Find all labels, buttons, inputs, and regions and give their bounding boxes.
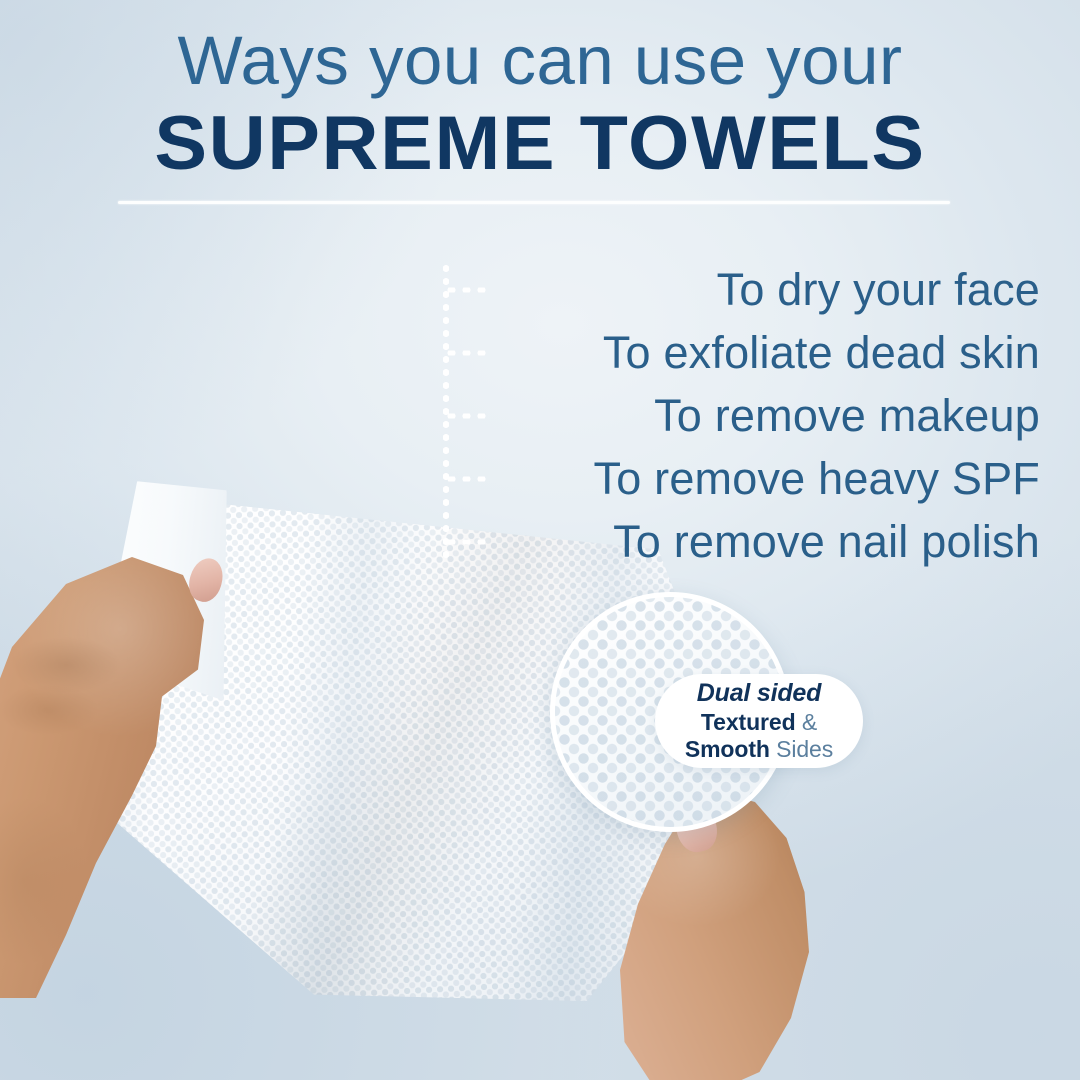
- page-title: Ways you can use your SUPREME TOWELS: [0, 24, 1080, 186]
- badge-subtitle: Textured & Smooth Sides: [685, 709, 833, 761]
- dotted-connector-icon: [444, 476, 490, 481]
- dotted-connector-icon: [444, 287, 490, 292]
- headline-line-1: Ways you can use your: [0, 24, 1080, 97]
- badge-smooth-label: Smooth: [685, 736, 770, 762]
- badge-sides-label: Sides: [770, 736, 833, 762]
- uses-list: To dry your face To exfoliate dead skin …: [440, 258, 1040, 573]
- use-label: To dry your face: [717, 267, 1040, 312]
- list-item: To remove heavy SPF: [440, 447, 1040, 510]
- use-label: To exfoliate dead skin: [603, 330, 1040, 375]
- badge-title: Dual sided: [697, 680, 821, 706]
- headline-line-2: SUPREME TOWELS: [0, 101, 1080, 186]
- dotted-connector-icon: [444, 539, 490, 544]
- headline-divider: [118, 201, 950, 204]
- use-label: To remove nail polish: [613, 519, 1040, 564]
- use-label: To remove makeup: [654, 393, 1040, 438]
- badge-ampersand: &: [796, 709, 818, 735]
- list-item: To remove nail polish: [440, 510, 1040, 573]
- promo-image: Ways you can use your SUPREME TOWELS To …: [0, 0, 1080, 1080]
- dotted-connector-icon: [444, 350, 490, 355]
- list-item: To remove makeup: [440, 384, 1040, 447]
- badge-textured-label: Textured: [701, 709, 796, 735]
- use-label: To remove heavy SPF: [594, 456, 1040, 501]
- dotted-connector-icon: [444, 413, 490, 418]
- status-badge: Dual sided Textured & Smooth Sides: [655, 674, 863, 768]
- list-item: To exfoliate dead skin: [440, 321, 1040, 384]
- list-item: To dry your face: [440, 258, 1040, 321]
